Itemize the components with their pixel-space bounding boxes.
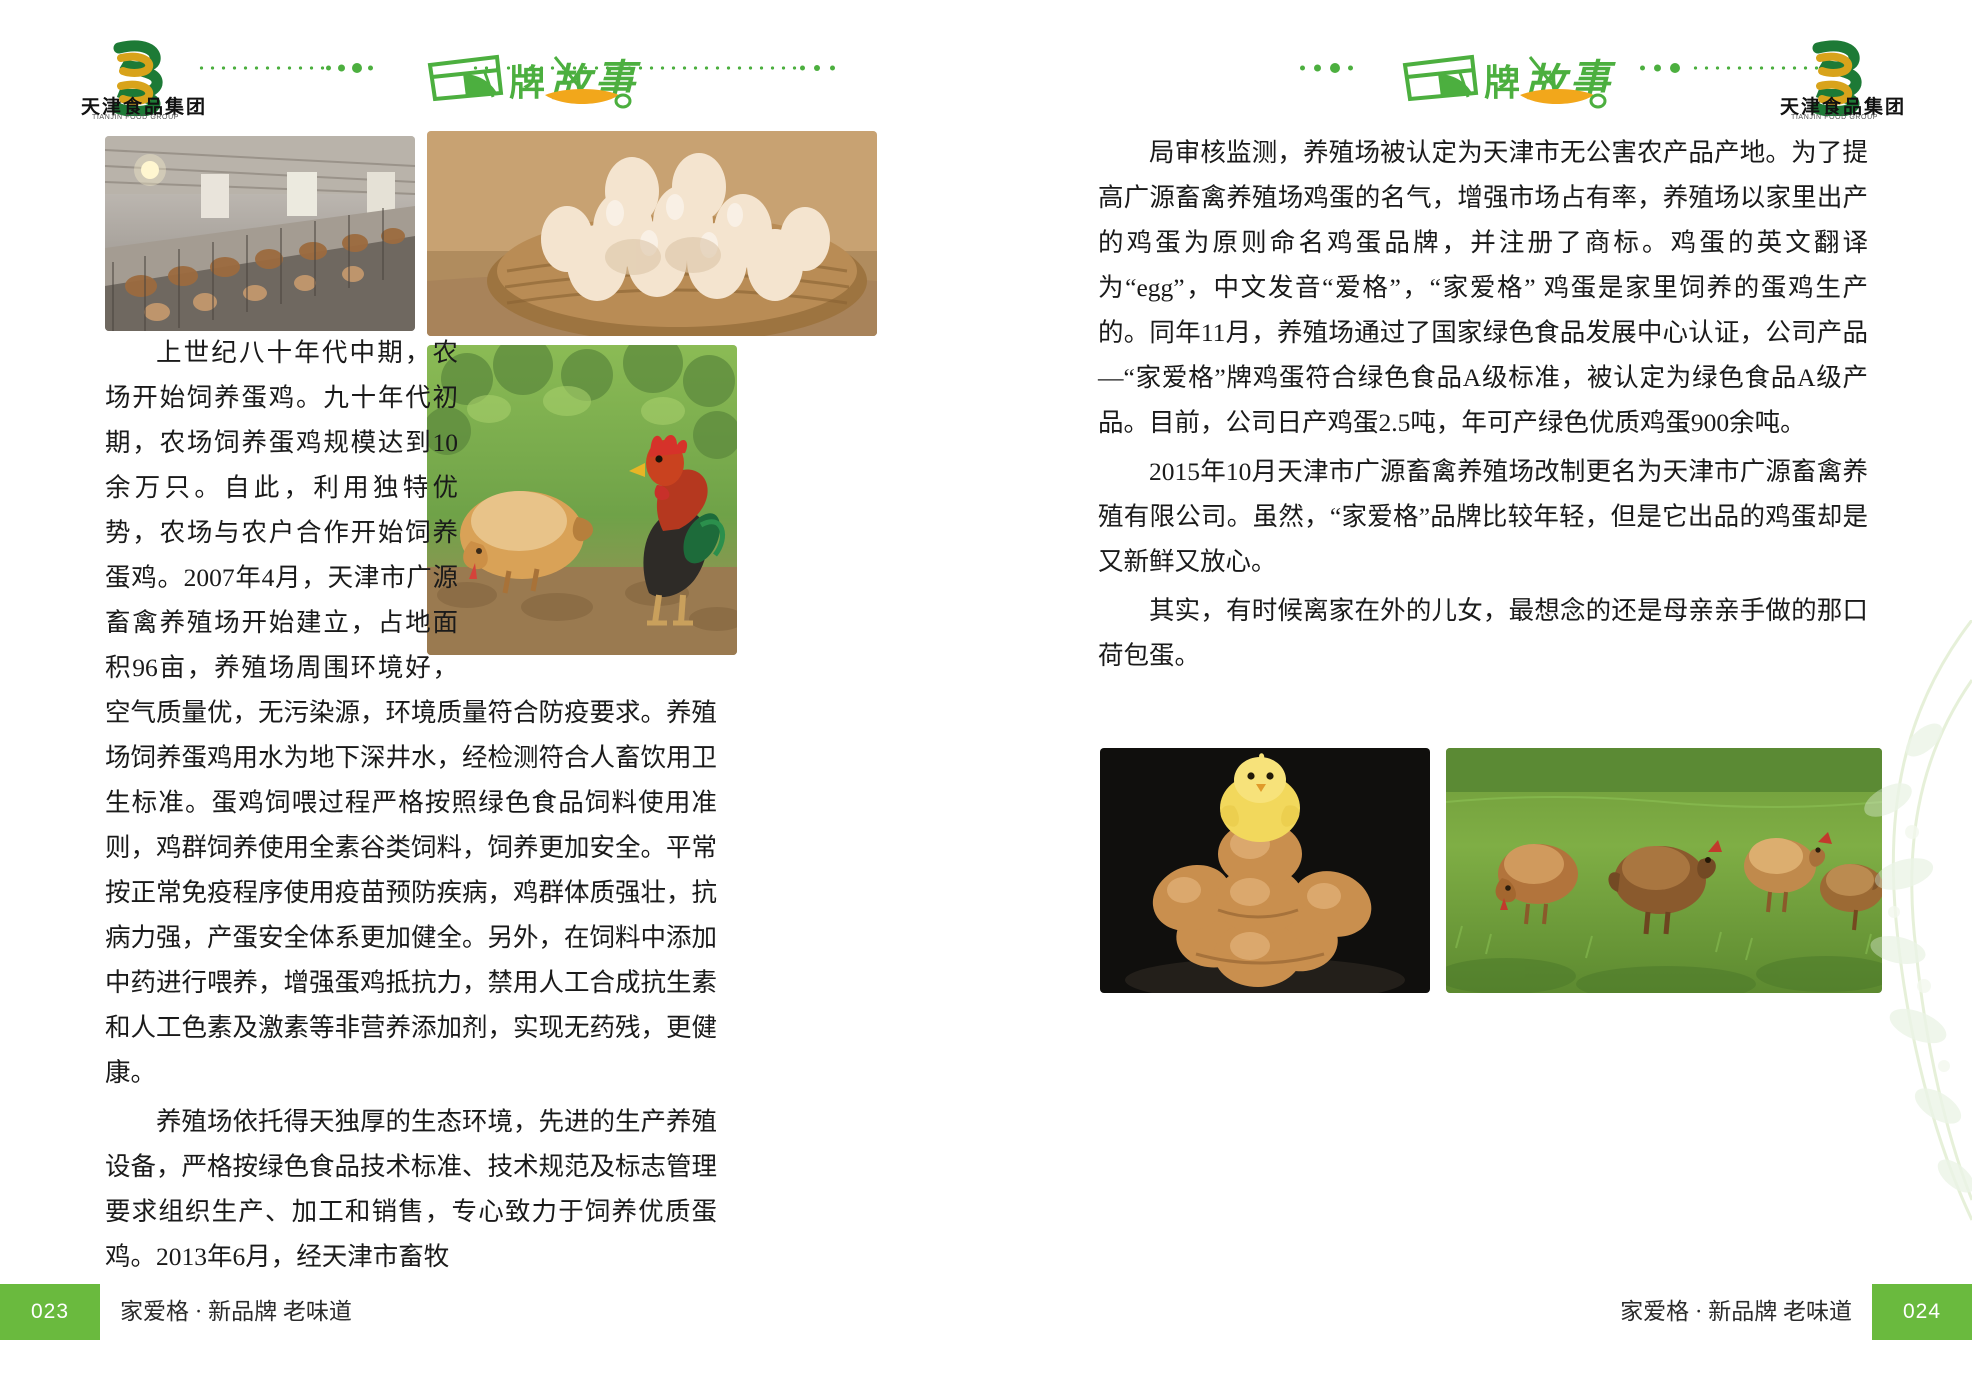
header-dotline-right bbox=[1690, 63, 1820, 73]
right-column-text: 局审核监测，养殖场被认定为天津市无公害农产品产地。为了提高广源畜禽养殖场鸡蛋的名… bbox=[1098, 130, 1868, 682]
company-name-en-left: TIANJIN FOOD GROUP bbox=[92, 114, 179, 121]
brand-story-wordmark-right: 牌 故 事 bbox=[1380, 43, 1630, 113]
svg-text:牌: 牌 bbox=[1484, 63, 1520, 103]
left-paragraph-2: 养殖场依托得天独厚的生态环境，先进的生产养殖设备，严格按绿色食品技术标准、技术规… bbox=[105, 1099, 717, 1279]
rooster-photo-text-wrap-spacer bbox=[472, 338, 717, 666]
header-dotline-left bbox=[196, 63, 326, 73]
header-dots-center-right bbox=[1300, 60, 1360, 76]
footer-tagline-right: 家爱格 · 新品牌 老味道 bbox=[1620, 1284, 1852, 1340]
header-dots-center bbox=[800, 60, 860, 76]
chicken-coop-photo bbox=[105, 136, 415, 331]
free-range-hens-photo bbox=[1446, 748, 1882, 993]
magazine-spread-page: 天津食品集团 TIANJIN FOOD GROUP 牌 bbox=[0, 0, 1972, 1388]
right-paragraph-3: 其实，有时候离家在外的儿女，最想念的还是母亲亲手做的那口荷包蛋。 bbox=[1098, 588, 1868, 678]
company-name-en-right: TIANJIN FOOD GROUP bbox=[1791, 114, 1878, 121]
chick-on-eggs-photo bbox=[1100, 748, 1430, 993]
page-number-left: 023 bbox=[0, 1284, 100, 1340]
header-dots-left bbox=[326, 60, 376, 76]
egg-basket-photo bbox=[427, 131, 877, 336]
right-paragraph-2: 2015年10月天津市广源畜禽养殖场改制更名为天津市广源畜禽养殖有限公司。虽然，… bbox=[1098, 449, 1868, 584]
footer-tagline-left: 家爱格 · 新品牌 老味道 bbox=[120, 1284, 352, 1340]
brand-story-wordmark-left: 牌 故 事 bbox=[405, 43, 655, 113]
left-column-text: 上世纪八十年代中期，农场开始饲养蛋鸡。九十年代初期，农场饲养蛋鸡规模达到10余万… bbox=[105, 330, 717, 1283]
header-dotline-center-left bbox=[470, 63, 800, 73]
page-header: 天津食品集团 TIANJIN FOOD GROUP 牌 bbox=[0, 0, 1972, 130]
right-paragraph-1: 局审核监测，养殖场被认定为天津市无公害农产品产地。为了提高广源畜禽养殖场鸡蛋的名… bbox=[1098, 130, 1868, 445]
page-number-right: 024 bbox=[1872, 1284, 1972, 1340]
